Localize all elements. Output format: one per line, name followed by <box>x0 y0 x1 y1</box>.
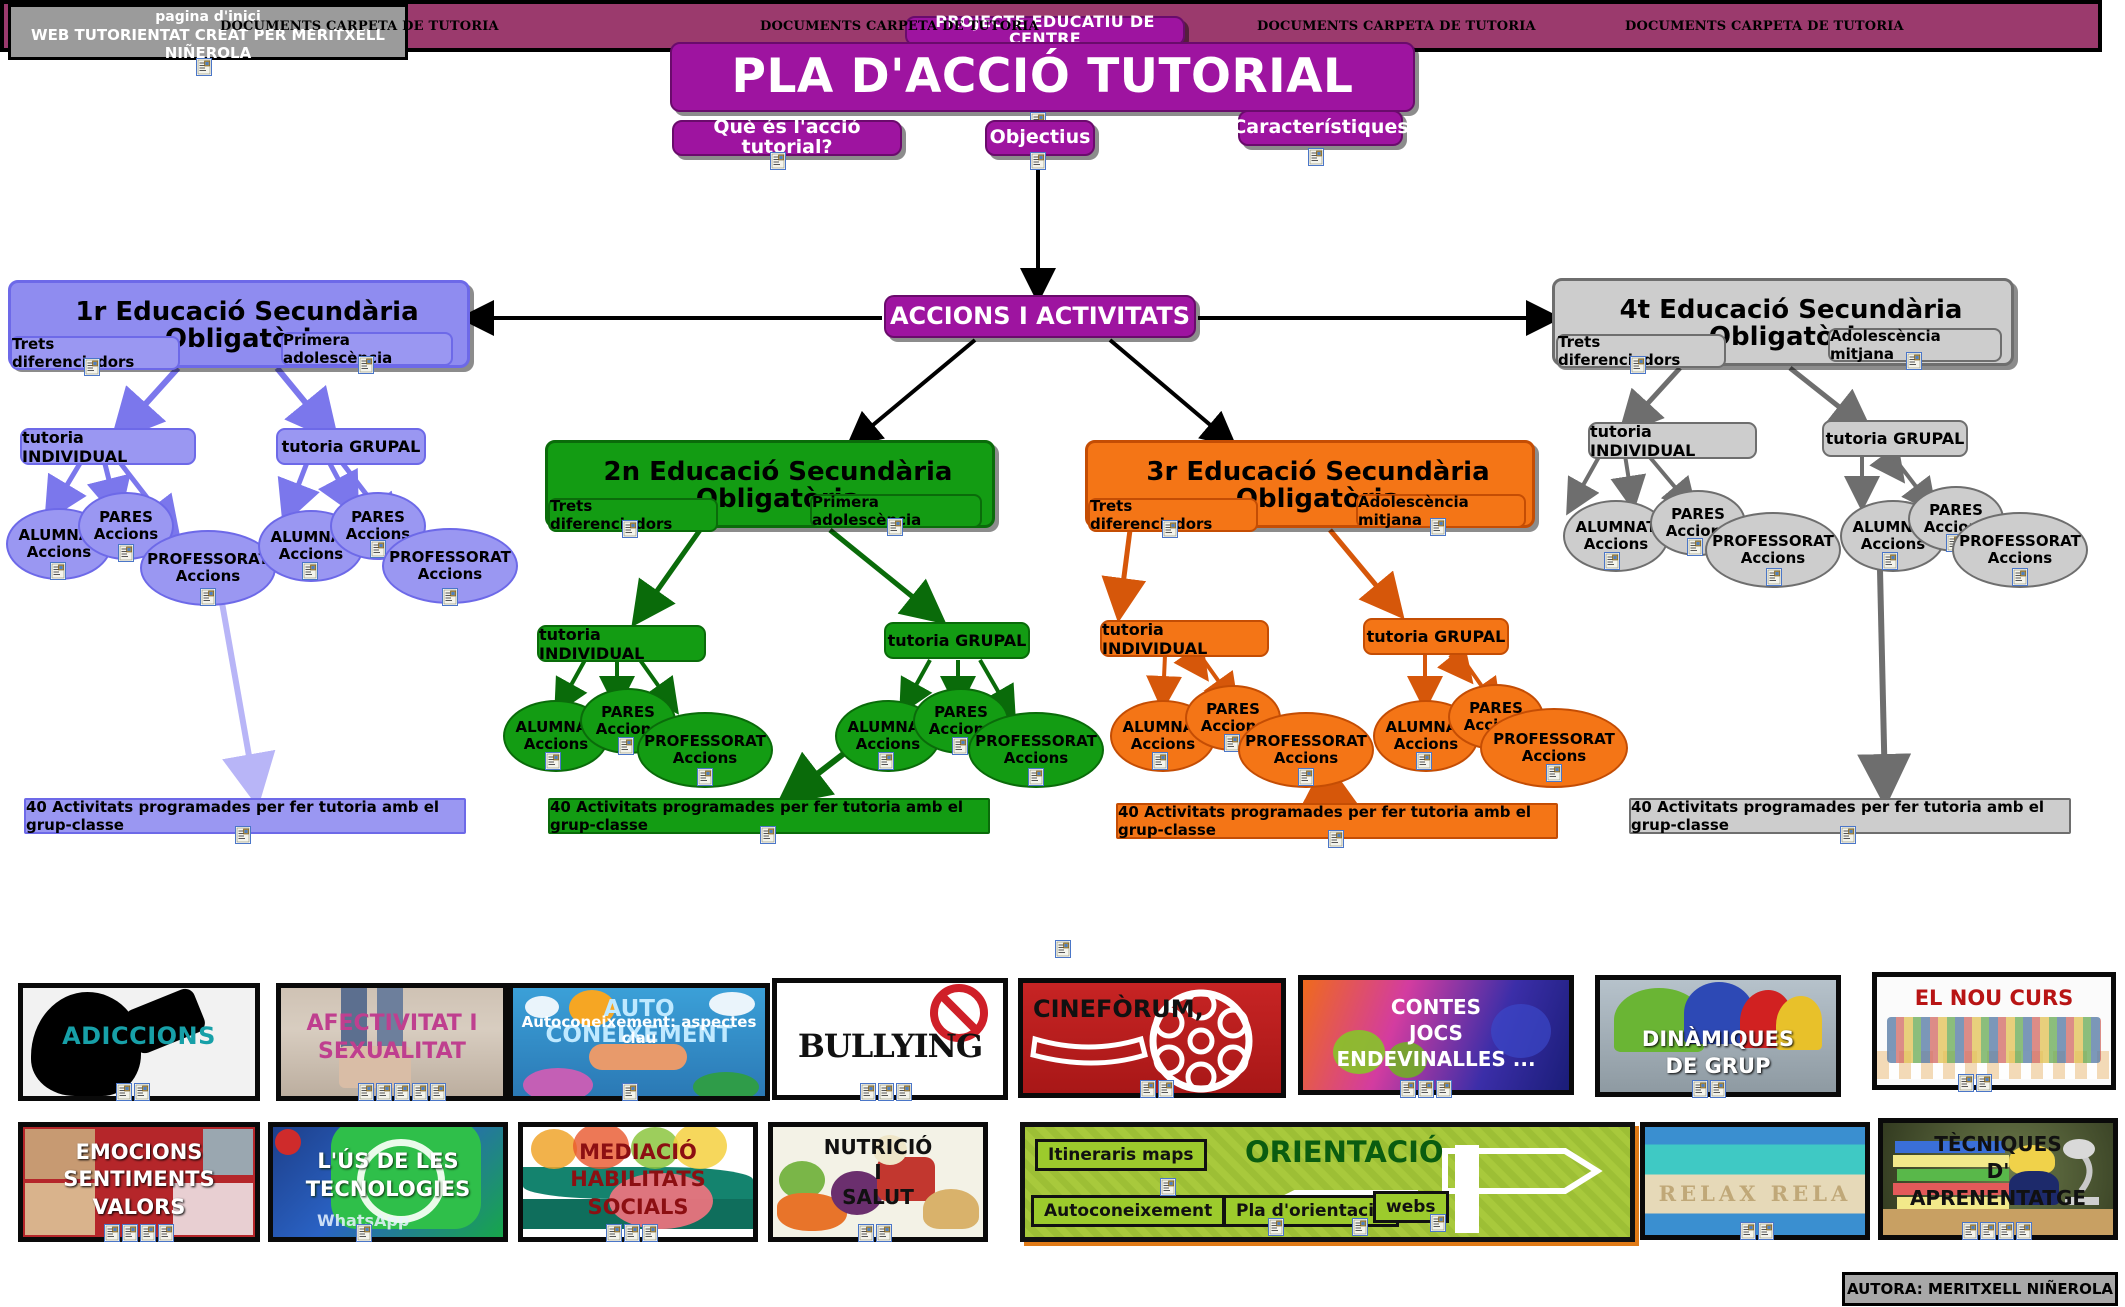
docbar-item-4[interactable]: DOCUMENTS CARPETA DE TUTORIA <box>1625 19 1904 34</box>
label-pares: PARES <box>351 509 405 526</box>
thumb-contes[interactable]: CONTES JOCS ENDEVINALLES ... <box>1298 975 1574 1095</box>
eso3-grp-prof-icon[interactable] <box>1546 764 1562 782</box>
eso1-ind-pares-icon[interactable] <box>118 544 134 562</box>
thumb-nutricio-icons[interactable] <box>858 1224 892 1242</box>
header-doc-icon[interactable] <box>196 58 212 76</box>
thumb-orientacio-label: ORIENTACIÓ <box>1245 1135 1444 1169</box>
thumb-tecniques-icons[interactable] <box>1962 1222 2032 1240</box>
thumb-afectivitat-label: AFECTIVITAT I SEXUALITAT <box>281 1010 503 1065</box>
orientacio-icon-2[interactable] <box>1268 1218 1284 1236</box>
q3-doc-icon[interactable] <box>1308 148 1324 166</box>
label-accions: Accions <box>418 566 482 583</box>
eso1-grp-prof-icon[interactable] <box>442 588 458 606</box>
eso3-tutoria-grupal[interactable]: tutoria GRUPAL <box>1363 618 1509 655</box>
eso4-ind-alumnat-icon[interactable] <box>1604 552 1620 570</box>
label-accions: Accions <box>1741 550 1805 567</box>
eso3-phase-icon[interactable] <box>1430 518 1446 536</box>
thumb-autoconeixement[interactable]: AUTO CONEIXEMENT Autoconeixement: aspect… <box>508 983 770 1101</box>
thumb-adiccions-icons[interactable] <box>116 1083 150 1101</box>
docbar-item-2[interactable]: DOCUMENTS CARPETA DE TUTORIA <box>760 19 1039 34</box>
label-professorat: PROFESSORAT <box>644 733 766 750</box>
eso3-ind-alumnat-icon[interactable] <box>1152 752 1168 770</box>
eso2-phase-icon[interactable] <box>887 518 903 536</box>
thumb-bullying[interactable]: BULLYING <box>772 978 1008 1100</box>
eso2-grp-pares-icon[interactable] <box>952 737 968 755</box>
eso1-trets-icon[interactable] <box>84 358 100 376</box>
eso2-ind-prof-icon[interactable] <box>697 768 713 786</box>
eso2-activitats-icon[interactable] <box>760 826 776 844</box>
page-title: PLA D'ACCIÓ TUTORIAL <box>670 42 1415 112</box>
label-professorat: PROFESSORAT <box>1493 731 1615 748</box>
thumb-cineforum-label: CINEFÒRUM, <box>1033 995 1204 1023</box>
label-professorat: PROFESSORAT <box>975 733 1097 750</box>
thumb-contes-icons[interactable] <box>1400 1080 1452 1098</box>
thumb-bullying-icons[interactable] <box>860 1083 912 1101</box>
eso4-ind-pares-icon[interactable] <box>1687 538 1703 556</box>
thumb-emocions-label: EMOCIONS SENTIMENTS VALORS <box>23 1139 255 1221</box>
label-professorat: PROFESSORAT <box>389 549 511 566</box>
eso1-ind-alumnat-icon[interactable] <box>50 562 66 580</box>
label-accions: Accions <box>524 736 588 753</box>
label-accions: Accions <box>1004 750 1068 767</box>
label-accions: Accions <box>1584 536 1648 553</box>
label-accions: Accions <box>1522 748 1586 765</box>
thumb-tecnologies-icons[interactable] <box>356 1224 372 1242</box>
thumb-nutricio-label: NUTRICIÓ I SALUT <box>773 1135 983 1210</box>
label-pares: PARES <box>99 509 153 526</box>
link-que-es-accio-tutorial[interactable]: Què és l'acció tutorial? <box>672 120 902 156</box>
chip-autoconeixement[interactable]: Autoconeixement <box>1031 1195 1225 1227</box>
label-accions: Accions <box>1988 550 2052 567</box>
label-accions: Accions <box>1274 750 1338 767</box>
label-professorat: PROFESSORAT <box>147 551 269 568</box>
thumb-el-nou-curs[interactable]: EL NOU CURS <box>1872 972 2116 1090</box>
eso2-ind-alumnat-icon[interactable] <box>545 752 561 770</box>
label-professorat: PROFESSORAT <box>1959 533 2081 550</box>
eso3-ind-prof-icon[interactable] <box>1298 768 1314 786</box>
eso3-tutoria-individual[interactable]: tutoria INDIVIDUAL <box>1100 620 1269 657</box>
thumb-dinamiques[interactable]: DINÀMIQUES DE GRUP <box>1595 975 1841 1097</box>
eso2-grp-alumnat-icon[interactable] <box>878 752 894 770</box>
eso4-trets-icon[interactable] <box>1630 356 1646 374</box>
thumb-orientacio[interactable]: ORIENTACIÓ Itineraris maps Autoconeixeme… <box>1020 1122 1635 1242</box>
thumb-dinamiques-label: DINÀMIQUES DE GRUP <box>1600 1026 1836 1081</box>
thumb-relax-label: RELAX RELA <box>1645 1183 1865 1206</box>
label-accions: Accions <box>27 544 91 561</box>
label-pares: PARES <box>1671 506 1725 523</box>
eso2-tutoria-individual[interactable]: tutoria INDIVIDUAL <box>537 625 706 662</box>
eso1-tutoria-individual[interactable]: tutoria INDIVIDUAL <box>20 428 196 465</box>
hub-accions-i-activitats[interactable]: ACCIONS I ACTIVITATS <box>884 295 1196 338</box>
q2-doc-icon[interactable] <box>1030 152 1046 170</box>
eso3-grp-alumnat-icon[interactable] <box>1416 752 1432 770</box>
thumb-tecniques-label: TÈCNIQUES D' APRENENTATGE <box>1883 1131 2113 1212</box>
eso2-trets-icon[interactable] <box>622 520 638 538</box>
eso3-trets-icon[interactable] <box>1162 520 1178 538</box>
eso1-grp-alumnat-icon[interactable] <box>302 562 318 580</box>
thumb-afectivitat-icons[interactable] <box>358 1083 446 1101</box>
thumb-cineforum-icons[interactable] <box>1140 1080 1174 1098</box>
thumb-contes-label: CONTES JOCS ENDEVINALLES ... <box>1303 994 1569 1072</box>
eso4-tutoria-individual[interactable]: tutoria INDIVIDUAL <box>1588 422 1757 459</box>
eso4-grp-alumnat-icon[interactable] <box>1882 552 1898 570</box>
thumb-mediacio-label: MEDIACIÓ HABILITATS SOCIALS <box>523 1139 753 1221</box>
label-accions: Accions <box>856 736 920 753</box>
label-pares: PARES <box>1929 502 1983 519</box>
link-objectius[interactable]: Objectius <box>985 120 1095 156</box>
eso2-ind-pares-icon[interactable] <box>618 737 634 755</box>
label-pares: PARES <box>1206 701 1260 718</box>
label-accions: Accions <box>94 526 158 543</box>
thumb-emocions-icons[interactable] <box>104 1224 174 1242</box>
eso4-ind-prof-icon[interactable] <box>1766 568 1782 586</box>
docbar-item-3[interactable]: DOCUMENTS CARPETA DE TUTORIA <box>1257 19 1536 34</box>
thumb-el-nou-curs-icons[interactable] <box>1958 1074 1992 1092</box>
thumb-mediacio-icons[interactable] <box>606 1224 658 1242</box>
eso4-grp-prof-icon[interactable] <box>2012 568 2028 586</box>
label-accions: Accions <box>1861 536 1925 553</box>
author-label: AUTORA: MERITXELL NIÑEROLA <box>1842 1272 2118 1306</box>
orientacio-icon-4[interactable] <box>1430 1214 1446 1232</box>
label-accions: Accions <box>176 568 240 585</box>
label-pares: PARES <box>934 704 988 721</box>
docbar-item-1[interactable]: DOCUMENTS CARPETA DE TUTORIA <box>220 19 499 34</box>
thumb-tecnologies-label: L'ÚS DE LES TECNOLOGIES <box>273 1147 503 1204</box>
connector-lines <box>0 0 2125 1307</box>
eso1-tutoria-grupal[interactable]: tutoria GRUPAL <box>276 428 426 465</box>
eso4-phase-icon[interactable] <box>1906 352 1922 370</box>
eso4-activitats-icon[interactable] <box>1840 826 1856 844</box>
orientacio-icon-3[interactable] <box>1352 1218 1368 1236</box>
eso3-activitats-icon[interactable] <box>1328 830 1344 848</box>
thumb-bullying-label: BULLYING <box>777 1029 1003 1064</box>
thumb-el-nou-curs-label: EL NOU CURS <box>1877 987 2111 1010</box>
thumb-dinamiques-icons[interactable] <box>1692 1080 1726 1098</box>
thumb-autoconeixement-sublabel: Autoconeixement: aspectes clau <box>513 1014 765 1046</box>
docbar-doc-icon[interactable] <box>1055 940 1071 958</box>
label-accions: Accions <box>673 750 737 767</box>
thumb-adiccions-label: ADICCIONS <box>23 1024 255 1050</box>
label-alumnat: ALUMNAT <box>1576 519 1657 536</box>
label-professorat: PROFESSORAT <box>1245 733 1367 750</box>
eso1-activitats-icon[interactable] <box>235 826 251 844</box>
chip-itineraris-maps[interactable]: Itineraris maps <box>1035 1139 1207 1171</box>
eso2-tutoria-grupal[interactable]: tutoria GRUPAL <box>884 622 1030 659</box>
thumb-tecnologies[interactable]: L'ÚS DE LES TECNOLOGIES WhatsApp <box>268 1122 508 1242</box>
label-accions: Accions <box>1394 736 1458 753</box>
link-caracteristiques[interactable]: Característiques <box>1238 110 1403 146</box>
label-accions: Accions <box>1131 736 1195 753</box>
thumb-autoconeixement-icons[interactable] <box>622 1083 638 1101</box>
label-professorat: PROFESSORAT <box>1712 533 1834 550</box>
q1-doc-icon[interactable] <box>770 152 786 170</box>
orientacio-icon-1[interactable] <box>1160 1178 1176 1196</box>
label-pares: PARES <box>601 704 655 721</box>
eso1-ind-prof-icon[interactable] <box>200 588 216 606</box>
eso1-phase-icon[interactable] <box>358 356 374 374</box>
label-accions: Accions <box>279 546 343 563</box>
thumb-relax-icons[interactable] <box>1740 1222 1774 1240</box>
eso2-grp-prof-icon[interactable] <box>1028 768 1044 786</box>
eso4-tutoria-grupal[interactable]: tutoria GRUPAL <box>1822 420 1968 457</box>
